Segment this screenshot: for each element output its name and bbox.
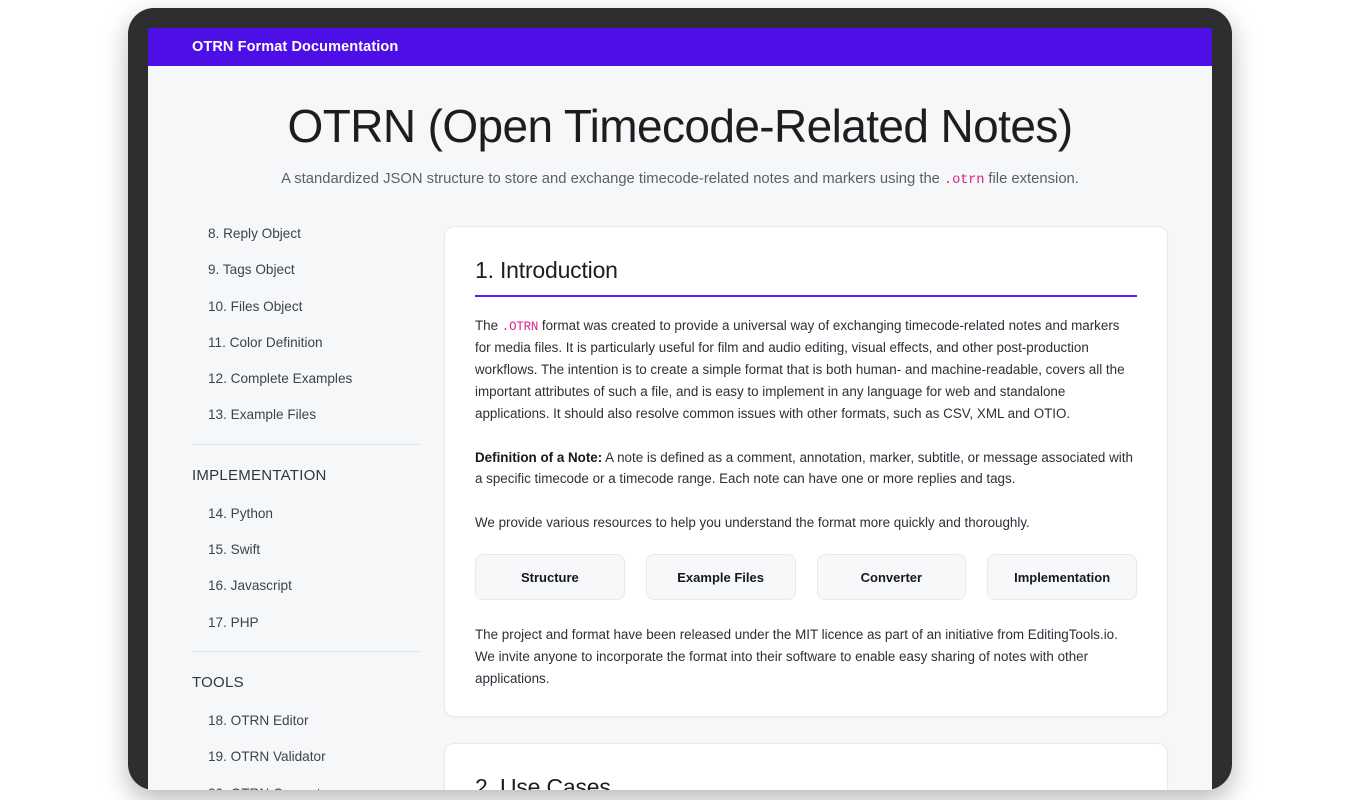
section-use-cases: 2. Use Cases OTRN integrates the process…	[444, 743, 1168, 790]
sidebar-nav: 8. Reply Object 9. Tags Object 10. Files…	[148, 226, 444, 790]
sidebar-section-implementation: IMPLEMENTATION	[192, 467, 420, 484]
page-title: OTRN (Open Timecode-Related Notes)	[168, 100, 1192, 153]
otrn-extension-code: .otrn	[944, 173, 984, 188]
otrn-format-code: .OTRN	[502, 320, 538, 334]
sidebar-divider-tools	[192, 651, 420, 652]
sidebar-section-tools: TOOLS	[192, 674, 420, 691]
sidebar-item-example-files[interactable]: 13. Example Files	[192, 407, 420, 423]
hero-section: OTRN (Open Timecode-Related Notes) A sta…	[148, 66, 1212, 188]
sidebar-item-php[interactable]: 17. PHP	[192, 615, 420, 631]
subtitle-text-after: file extension.	[984, 171, 1079, 187]
introduction-paragraph-1: The .OTRN format was created to provide …	[475, 315, 1137, 425]
example-files-button[interactable]: Example Files	[646, 554, 796, 600]
sidebar-item-python[interactable]: 14. Python	[192, 506, 420, 522]
structure-button[interactable]: Structure	[475, 554, 625, 600]
sidebar-item-files-object[interactable]: 10. Files Object	[192, 299, 420, 315]
sidebar-item-otrn-editor[interactable]: 18. OTRN Editor	[192, 713, 420, 729]
resource-button-row: Structure Example Files Converter Implem…	[475, 554, 1137, 600]
sidebar-item-otrn-converter[interactable]: 20. OTRN Converter	[192, 786, 420, 790]
body-wrapper: 8. Reply Object 9. Tags Object 10. Files…	[148, 188, 1212, 790]
device-screen: OTRN Format Documentation OTRN (Open Tim…	[148, 28, 1212, 790]
app-title: OTRN Format Documentation	[192, 39, 398, 55]
sidebar-item-color-definition[interactable]: 11. Color Definition	[192, 335, 420, 351]
sidebar-item-complete-examples[interactable]: 12. Complete Examples	[192, 371, 420, 387]
implementation-button[interactable]: Implementation	[987, 554, 1137, 600]
sidebar-divider-implementation	[192, 444, 420, 445]
section-use-cases-title: 2. Use Cases	[475, 774, 1137, 790]
sidebar-item-swift[interactable]: 15. Swift	[192, 542, 420, 558]
note-definition-label: Definition of a Note:	[475, 450, 602, 465]
page-subtitle: A standardized JSON structure to store a…	[168, 171, 1192, 188]
section-introduction: 1. Introduction The .OTRN format was cre…	[444, 226, 1168, 717]
introduction-resources-line: We provide various resources to help you…	[475, 512, 1137, 534]
app-topbar: OTRN Format Documentation	[148, 28, 1212, 66]
section-introduction-title: 1. Introduction	[475, 257, 1137, 284]
introduction-note-definition: Definition of a Note: A note is defined …	[475, 447, 1137, 491]
sidebar-item-otrn-validator[interactable]: 19. OTRN Validator	[192, 749, 420, 765]
converter-button[interactable]: Converter	[817, 554, 967, 600]
section-introduction-rule	[475, 295, 1137, 297]
intro-p1-before: The	[475, 318, 502, 333]
intro-p1-after: format was created to provide a universa…	[475, 318, 1125, 421]
introduction-licence-paragraph: The project and format have been release…	[475, 624, 1137, 690]
sidebar-item-javascript[interactable]: 16. Javascript	[192, 578, 420, 594]
sidebar-item-tags-object[interactable]: 9. Tags Object	[192, 262, 420, 278]
main-content: 1. Introduction The .OTRN format was cre…	[444, 226, 1212, 790]
sidebar-item-reply-object[interactable]: 8. Reply Object	[192, 226, 420, 242]
subtitle-text-before: A standardized JSON structure to store a…	[281, 171, 944, 187]
